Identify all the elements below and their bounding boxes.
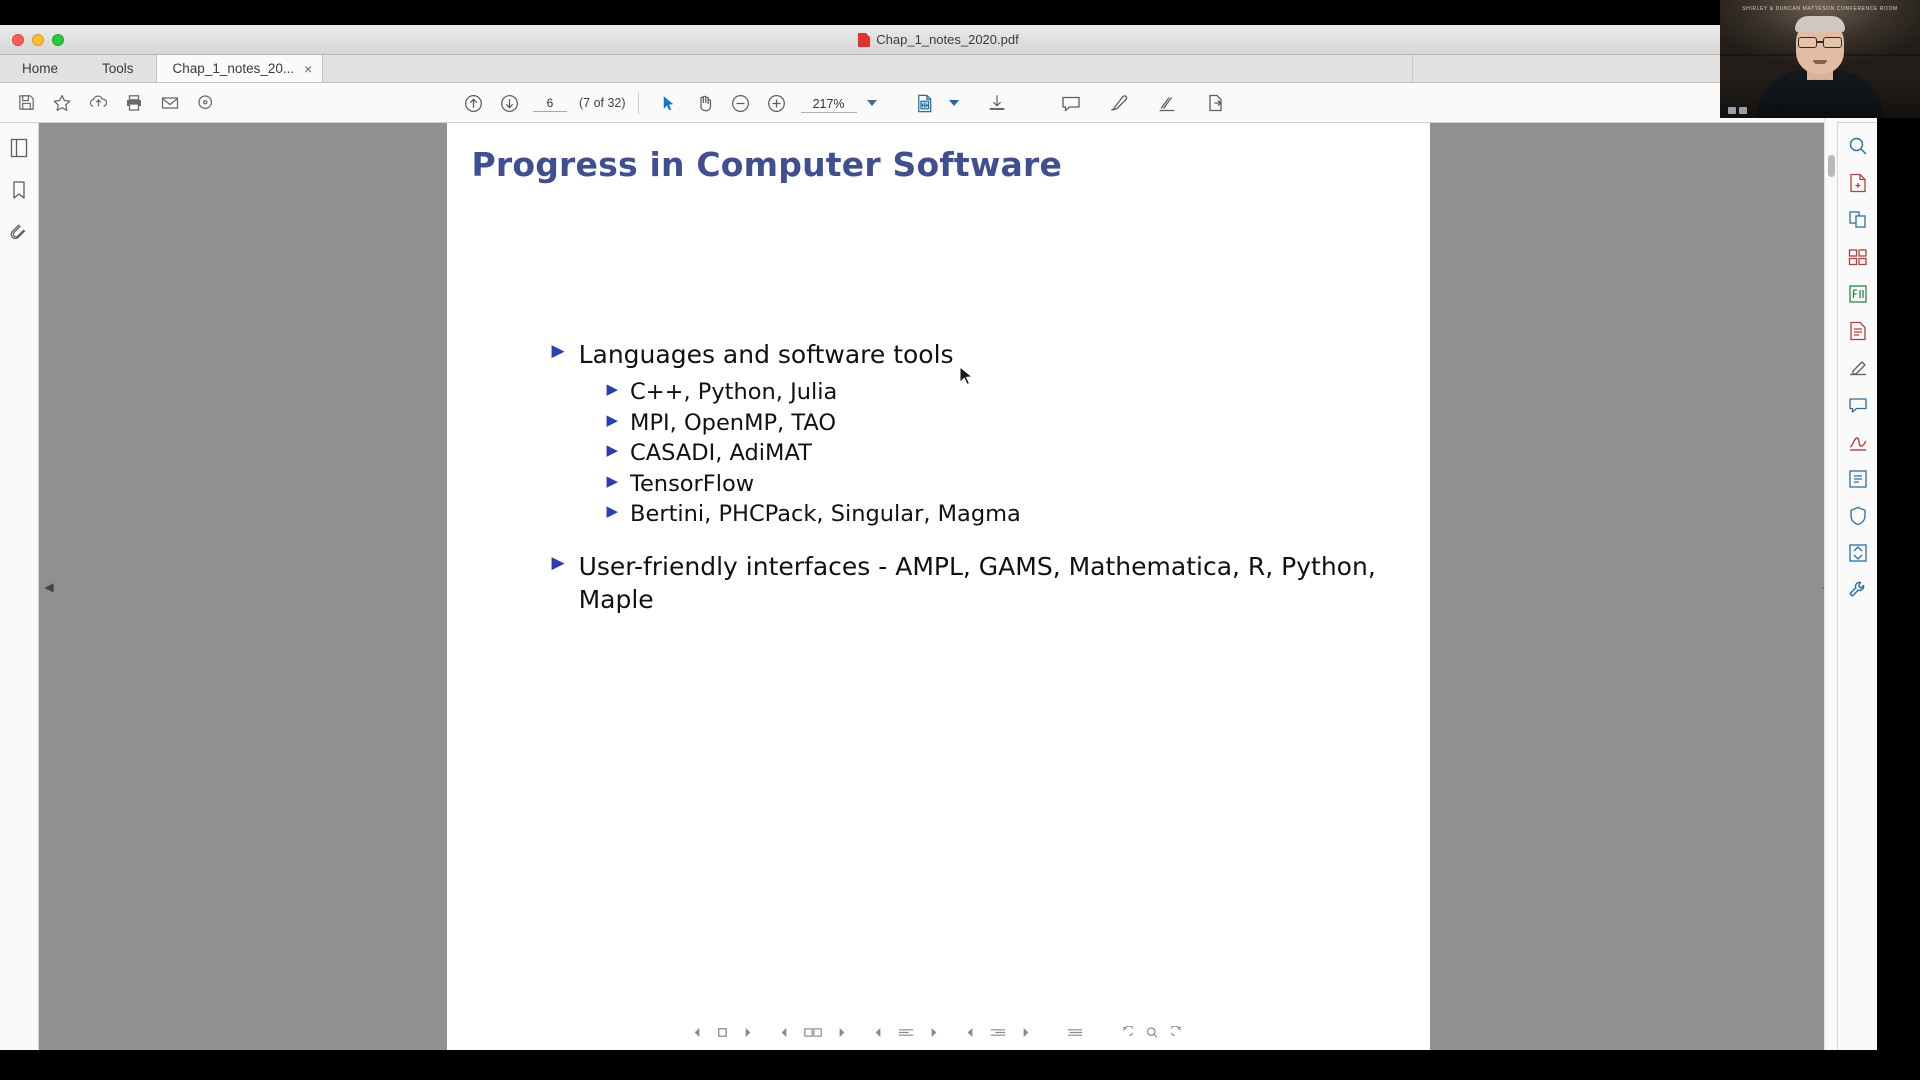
next-page-nav-icon[interactable] [927, 1026, 940, 1039]
comment-icon[interactable] [1053, 87, 1089, 119]
section-icon[interactable] [803, 1026, 823, 1039]
page-title: Progress in Computer Software [472, 145, 1063, 184]
pdf-file-icon [858, 33, 870, 47]
next-arrow-icon[interactable] [741, 1026, 754, 1039]
collapse-left-panel-icon[interactable]: ◀ [43, 567, 55, 607]
star-icon[interactable] [44, 87, 80, 119]
export-pdf-icon[interactable] [1845, 281, 1871, 307]
bullet-text: User-friendly interfaces - AMPL, GAMS, M… [579, 550, 1382, 616]
prev-page-nav-icon[interactable] [964, 1026, 977, 1039]
thumbnails-icon[interactable] [6, 135, 32, 161]
zoom-in-button[interactable] [759, 87, 795, 119]
tab-strip-filler [323, 55, 1413, 82]
stamp-icon[interactable] [1845, 466, 1871, 492]
previous-page-button[interactable] [455, 87, 491, 119]
print-icon[interactable] [116, 87, 152, 119]
bullet-marker-icon: ▶ [607, 499, 619, 523]
screen-root: Chap_1_notes_2020.pdf Home Tools Chap_1_… [0, 0, 1920, 1080]
comment-tool-icon[interactable] [1845, 392, 1871, 418]
window-title: Chap_1_notes_2020.pdf [0, 32, 1877, 47]
fill-sign-icon[interactable] [1845, 355, 1871, 381]
dock-icon [1739, 107, 1747, 114]
zoom-dropdown-chevron-down-icon[interactable] [867, 100, 877, 106]
bullet-item: ▶ User-friendly interfaces - AMPL, GAMS,… [552, 550, 1382, 616]
page-nav-strip [447, 1014, 1430, 1050]
window-controls[interactable] [12, 34, 64, 46]
sub-bullet-item: ▶ Bertini, PHCPack, Singular, Magma [607, 499, 1382, 530]
workspace: ◀ Progress in Computer Software ▶ Langua… [0, 123, 1877, 1050]
document-canvas[interactable]: ◀ Progress in Computer Software ▶ Langua… [39, 123, 1837, 1050]
mouse-cursor [959, 366, 975, 388]
download-icon[interactable] [979, 87, 1015, 119]
email-icon[interactable] [152, 87, 188, 119]
close-tab-icon[interactable]: × [304, 62, 312, 76]
sign-icon[interactable] [1845, 429, 1871, 455]
sub-bullet-text: C++, Python, Julia [630, 377, 837, 408]
tab-document[interactable]: Chap_1_notes_20... × [156, 55, 324, 82]
bullet-marker-icon: ▶ [552, 550, 565, 576]
attachment-icon[interactable] [6, 219, 32, 245]
tab-home[interactable]: Home [0, 55, 80, 82]
highlight-pen-icon[interactable] [1101, 87, 1137, 119]
glasses-right-lens [1823, 37, 1842, 48]
toolbar-center-group: 6 (7 of 32) [455, 83, 1233, 123]
select-cursor-icon[interactable] [651, 87, 687, 119]
strikethrough-icon[interactable] [1149, 87, 1185, 119]
acrobat-window: Chap_1_notes_2020.pdf Home Tools Chap_1_… [0, 25, 1877, 1050]
vertical-scrollbar[interactable] [1824, 25, 1837, 1050]
left-navigation-rail [0, 123, 39, 1050]
next-page-button[interactable] [491, 87, 527, 119]
window-title-text: Chap_1_notes_2020.pdf [876, 32, 1018, 47]
bullet-marker-icon: ▶ [607, 377, 619, 401]
zoom-level-input[interactable]: 217% [801, 94, 857, 113]
minimize-window-button[interactable] [32, 34, 44, 46]
last-page-icon[interactable] [1019, 1026, 1032, 1039]
prev-section-icon[interactable] [778, 1026, 791, 1039]
webcam-vignette [1720, 78, 1920, 118]
sub-bullet-text: CASADI, AdiMAT [630, 438, 812, 469]
bullet-marker-icon: ▶ [607, 469, 619, 493]
find-icon[interactable] [1145, 1026, 1159, 1039]
window-titlebar: Chap_1_notes_2020.pdf [0, 25, 1877, 55]
toolbar-divider-1 [638, 92, 639, 114]
scrollbar-thumb[interactable] [1828, 155, 1835, 177]
fit-dropdown-chevron-down-icon[interactable] [949, 100, 959, 106]
redo-icon[interactable] [1171, 1026, 1186, 1039]
close-window-button[interactable] [12, 34, 24, 46]
fit-page-icon[interactable] [907, 87, 943, 119]
right-tools-rail [1837, 123, 1877, 1050]
sub-bullet-item: ▶ TensorFlow [607, 469, 1382, 500]
glasses-bridge [1817, 41, 1823, 43]
tab-tools[interactable]: Tools [80, 55, 156, 82]
sub-bullet-item: ▶ MPI, OpenMP, TAO [607, 408, 1382, 439]
hand-icon[interactable] [687, 87, 723, 119]
bullet-marker-icon: ▶ [552, 338, 565, 364]
bullet-marker-icon: ▶ [607, 438, 619, 462]
pdf-page: Progress in Computer Software ▶ Language… [447, 123, 1430, 1050]
glasses-left-lens [1798, 37, 1817, 48]
search-tool-icon[interactable] [1845, 133, 1871, 159]
stop-square-icon[interactable] [716, 1026, 729, 1039]
page-number-input[interactable]: 6 [533, 94, 567, 112]
organize-pages-icon[interactable] [1845, 244, 1871, 270]
sub-bullet-item: ▶ C++, Python, Julia [607, 377, 1382, 408]
protect-icon[interactable] [1845, 503, 1871, 529]
toolbar-left-group [0, 87, 224, 119]
list-icon[interactable] [1066, 1026, 1084, 1039]
conference-room-sign: SHIRLEY & DUNCAN MATTESON CONFERENCE ROO… [1720, 6, 1920, 14]
person-mouth [1813, 60, 1827, 64]
sub-bullet-item: ▶ CASADI, AdiMAT [607, 438, 1382, 469]
bullet-text: Languages and software tools [579, 338, 954, 371]
share-icon[interactable] [1197, 87, 1233, 119]
create-pdf-icon[interactable] [1845, 170, 1871, 196]
combine-files-icon[interactable] [1845, 207, 1871, 233]
tab-tools-label: Tools [102, 61, 134, 76]
sub-bullet-text: MPI, OpenMP, TAO [630, 408, 836, 439]
maximize-window-button[interactable] [52, 34, 64, 46]
next-section-icon[interactable] [835, 1026, 848, 1039]
first-page-icon[interactable] [872, 1026, 885, 1039]
more-tools-icon[interactable] [1845, 577, 1871, 603]
align-right-icon[interactable] [989, 1026, 1007, 1039]
edit-pdf-icon[interactable] [1845, 318, 1871, 344]
webcam-dock-icons [1728, 107, 1747, 114]
prev-arrow-icon[interactable] [691, 1026, 704, 1039]
person-hair [1795, 16, 1845, 32]
compress-icon[interactable] [1845, 540, 1871, 566]
sub-bullet-text: Bertini, PHCPack, Singular, Magma [630, 499, 1021, 530]
align-left-icon[interactable] [897, 1026, 915, 1039]
zoom-out-button[interactable] [723, 87, 759, 119]
bullet-marker-icon: ▶ [607, 408, 619, 432]
tab-home-label: Home [22, 61, 58, 76]
sub-bullet-list: ▶ C++, Python, Julia ▶ MPI, OpenMP, TAO … [607, 377, 1382, 530]
sub-bullet-text: TensorFlow [630, 469, 754, 500]
tab-document-label: Chap_1_notes_20... [173, 61, 295, 76]
dock-icon [1728, 107, 1736, 114]
cloud-upload-icon[interactable] [80, 87, 116, 119]
main-toolbar: 6 (7 of 32) [0, 83, 1877, 123]
webcam-overlay[interactable]: SHIRLEY & DUNCAN MATTESON CONFERENCE ROO… [1720, 0, 1920, 118]
undo-icon[interactable] [1118, 1026, 1133, 1039]
save-button[interactable] [8, 87, 44, 119]
search-icon[interactable] [188, 87, 224, 119]
page-count-label: (7 of 32) [579, 96, 626, 110]
bookmark-icon[interactable] [6, 177, 32, 203]
tab-strip: Home Tools Chap_1_notes_20... × [0, 55, 1877, 83]
